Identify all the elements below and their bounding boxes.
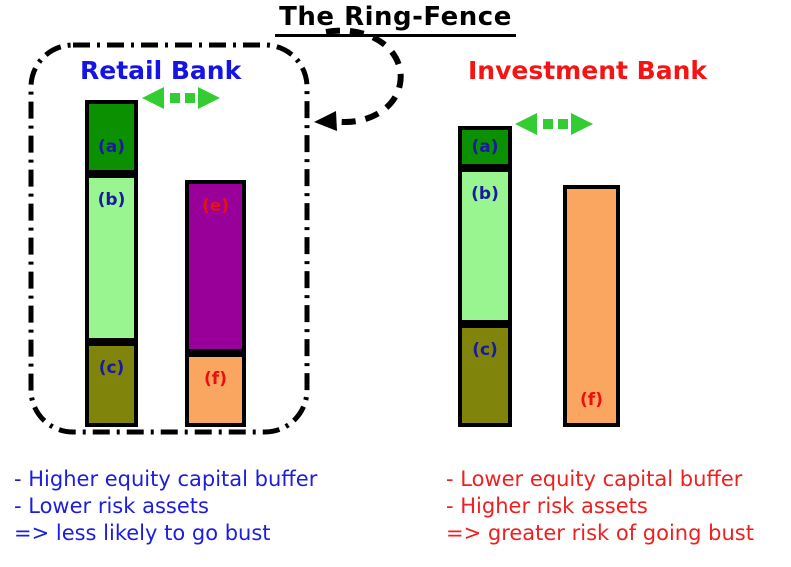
investment-segment-f-label: (f) — [580, 392, 603, 423]
retail-segment-c: (c) — [85, 342, 138, 427]
diagram-canvas: The Ring-Fence Retail Bank (a) (b) (c) — [0, 0, 791, 567]
investment-segment-a: (a) — [458, 126, 512, 168]
retail-segment-c-label: (c) — [99, 346, 125, 377]
investment-segment-a-label: (a) — [471, 139, 498, 156]
investment-equity-buffer-arrow — [515, 112, 593, 140]
retail-segment-f-label: (f) — [204, 357, 227, 388]
retail-segment-a-label: (a) — [98, 139, 125, 170]
investment-note-1: - Lower equity capital buffer — [446, 466, 754, 493]
retail-segment-a: (a) — [85, 100, 138, 174]
investment-segment-b: (b) — [458, 168, 512, 324]
retail-note-3: => less likely to go bust — [14, 520, 317, 547]
curved-dashed-arrow — [300, 18, 420, 138]
retail-equity-buffer-arrow — [142, 86, 220, 114]
investment-bank-title: Investment Bank — [468, 56, 707, 85]
investment-note-3: => greater risk of going bust — [446, 520, 754, 547]
retail-bank-title: Retail Bank — [80, 56, 241, 85]
retail-segment-e: (e) — [185, 180, 246, 353]
retail-note-2: - Lower risk assets — [14, 493, 317, 520]
investment-note-2: - Higher risk assets — [446, 493, 754, 520]
retail-segment-b-label: (b) — [98, 178, 126, 209]
investment-segment-b-label: (b) — [471, 172, 499, 203]
investment-segment-f: (f) — [563, 185, 620, 427]
retail-bank-notes: - Higher equity capital buffer - Lower r… — [14, 466, 317, 547]
investment-segment-c: (c) — [458, 324, 512, 427]
retail-segment-b: (b) — [85, 174, 138, 342]
retail-segment-e-label: (e) — [202, 184, 229, 215]
retail-note-1: - Higher equity capital buffer — [14, 466, 317, 493]
investment-bank-notes: - Lower equity capital buffer - Higher r… — [446, 466, 754, 547]
investment-segment-c-label: (c) — [472, 328, 498, 359]
retail-segment-f: (f) — [185, 353, 246, 427]
